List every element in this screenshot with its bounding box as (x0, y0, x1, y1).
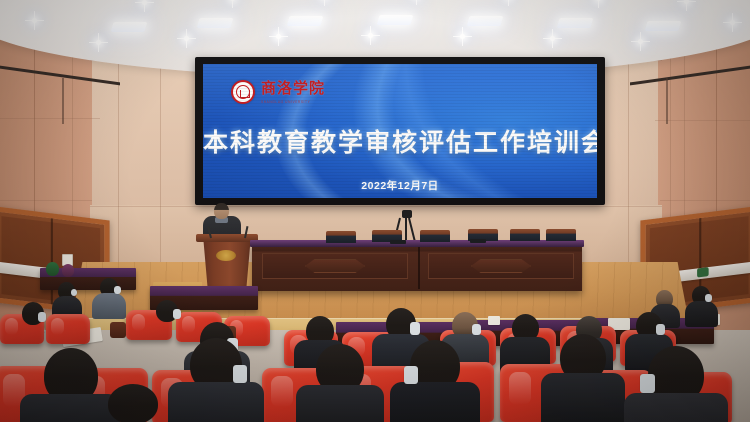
ceiling-spot-light (184, 36, 189, 41)
ceiling-panel-light (645, 21, 682, 31)
table-microphone (390, 240, 406, 244)
ceiling-spot-light (638, 39, 643, 44)
ceiling-spot-light (550, 36, 555, 41)
ceiling-panel-light (287, 16, 324, 26)
stage-chair (546, 229, 576, 241)
document-on-desk (488, 316, 500, 325)
wall-wire-left (62, 78, 64, 124)
ceiling-spot-light (96, 40, 101, 45)
ceiling-spot-light (730, 20, 735, 25)
ceiling-spot-light (368, 33, 373, 38)
seat-armrest (110, 322, 126, 338)
table-microphone (470, 239, 486, 243)
ceiling-panel-light (197, 18, 234, 28)
ceiling-panel-light (111, 22, 148, 32)
ceiling-panel-light (467, 16, 504, 26)
led-display-screen[interactable]: 商洛学院 SHANGLUO UNIVERSITY 本科教育教学审核评估工作培训会… (195, 57, 605, 205)
ceiling-panel-light (377, 15, 414, 25)
ceiling-spot-light (32, 18, 37, 23)
stage-head-table (252, 243, 582, 291)
speaker-head (214, 203, 229, 219)
auditorium-seat[interactable] (46, 314, 90, 344)
ceiling-spot-light (684, 0, 689, 4)
stage-chair (326, 231, 356, 243)
podium-top-surface (196, 234, 258, 242)
podium-emblem-icon (216, 250, 236, 261)
ceiling-panel-light (557, 18, 594, 28)
ceiling-spot-light (460, 34, 465, 39)
video-camera (402, 210, 412, 218)
ceiling-spot-light (276, 34, 281, 39)
door-right-handle[interactable] (697, 267, 709, 277)
ceiling-spot-light (142, 0, 147, 5)
stage-chair (420, 230, 450, 242)
wall-wire-right (666, 78, 668, 124)
screen-content: 商洛学院 SHANGLUO UNIVERSITY 本科教育教学审核评估工作培训会… (203, 64, 597, 198)
stage-chair (510, 229, 540, 241)
ceiling-spot-light (230, 0, 235, 1)
ceiling-spot-light (596, 0, 601, 1)
auditorium-photo: 商洛学院 SHANGLUO UNIVERSITY 本科教育教学审核评估工作培训会… (0, 0, 750, 422)
stage-table-top (250, 240, 584, 247)
